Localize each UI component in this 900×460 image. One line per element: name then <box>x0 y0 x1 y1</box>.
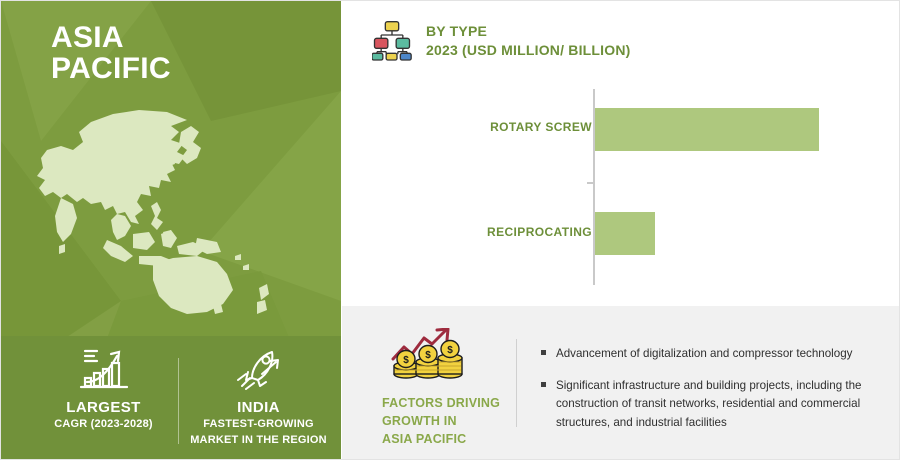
chart-title: BY TYPE <box>426 23 631 39</box>
chart-header: BY TYPE 2023 (USD MILLION/ BILLION) <box>372 19 631 61</box>
bullet-text: Significant infrastructure and building … <box>556 379 861 429</box>
list-item: Advancement of digitalization and compre… <box>540 344 880 363</box>
stat-largest-subtitle: CAGR (2023-2028) <box>26 418 181 432</box>
growth-bar-chart-icon <box>26 344 181 392</box>
stat-largest: LARGEST CAGR (2023-2028) <box>26 344 181 432</box>
stat-india-subtitle-line2: MARKET IN THE REGION <box>181 434 336 448</box>
stats-band: LARGEST CAGR (2023-2028) <box>1 336 341 460</box>
bar-rotary-screw <box>595 108 819 151</box>
region-panel: ASIA PACIFIC <box>1 1 341 460</box>
bar-label-reciprocating: RECIPROCATING <box>392 225 592 239</box>
svg-text:$: $ <box>425 350 431 361</box>
bullet-square-icon <box>541 350 546 355</box>
factors-panel: $ $ $ FACTORS DRIVING GROWTH IN ASIA PAC… <box>342 306 900 460</box>
factors-title-line1: FACTORS DRIVING <box>382 394 517 412</box>
svg-text:$: $ <box>447 345 453 356</box>
coins-growth-icon: $ $ $ <box>390 328 465 380</box>
bullet-text: Advancement of digitalization and compre… <box>556 347 852 360</box>
bullet-square-icon <box>541 382 546 387</box>
stat-india: INDIA FASTEST-GROWING MARKET IN THE REGI… <box>181 344 336 448</box>
factors-title-line2: GROWTH IN <box>382 412 517 430</box>
svg-text:$: $ <box>403 355 409 366</box>
chart-axis-tick <box>587 182 594 184</box>
list-item: Significant infrastructure and building … <box>540 376 880 432</box>
factors-title-line3: ASIA PACIFIC <box>382 430 517 448</box>
bar-label-rotary-screw: ROTARY SCREW <box>392 120 592 134</box>
bar-chart: ROTARY SCREW RECIPROCATING <box>342 86 900 296</box>
infographic-frame: ASIA PACIFIC <box>0 0 900 460</box>
factors-heading-block: $ $ $ FACTORS DRIVING GROWTH IN ASIA PAC… <box>382 328 517 448</box>
hierarchy-org-chart-icon <box>372 19 412 61</box>
stat-india-subtitle-line1: FASTEST-GROWING <box>181 418 336 432</box>
chart-subtitle: 2023 (USD MILLION/ BILLION) <box>426 42 631 58</box>
factors-title: FACTORS DRIVING GROWTH IN ASIA PACIFIC <box>382 394 517 448</box>
factors-bullet-list: Advancement of digitalization and compre… <box>540 344 880 444</box>
bar-reciprocating <box>595 212 655 255</box>
page-title: ASIA PACIFIC <box>51 23 171 84</box>
factors-divider <box>516 339 517 427</box>
region-title-line2: PACIFIC <box>51 54 171 85</box>
asia-pacific-map-icon <box>21 106 341 321</box>
stat-largest-title: LARGEST <box>26 399 181 416</box>
rocket-icon <box>181 344 336 392</box>
region-title-line1: ASIA <box>51 23 171 54</box>
stat-india-title: INDIA <box>181 399 336 416</box>
